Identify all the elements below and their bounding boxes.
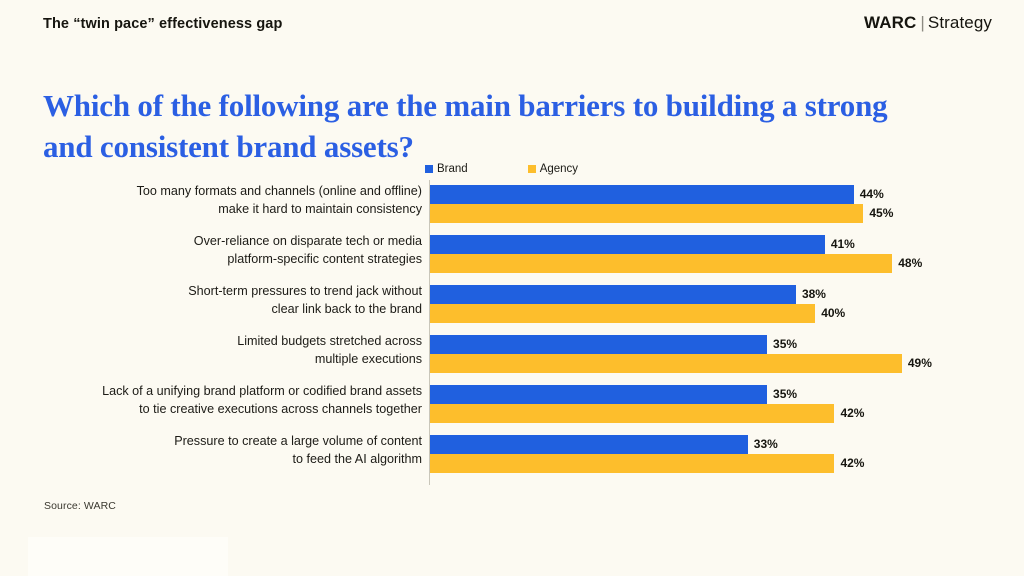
bar-row: 41% [430,235,1024,254]
legend-label-brand: Brand [437,163,468,175]
bar-row: 40% [430,304,1024,323]
category-label-line: multiple executions [2,350,422,368]
plot-area: Too many formats and channels (online an… [0,180,1024,490]
bar-row: 44% [430,185,1024,204]
bar-value-label: 35% [773,337,797,351]
bar-row: 35% [430,385,1024,404]
bar-row: 42% [430,454,1024,473]
bar-agency[interactable] [430,204,863,223]
bar-group: Lack of a unifying brand platform or cod… [0,385,1024,426]
warc-wordmark: WARC [864,13,916,32]
bar-group: Over-reliance on disparate tech or media… [0,235,1024,276]
bar-agency[interactable] [430,254,892,273]
bar-value-label: 42% [840,406,864,420]
bar-row: 49% [430,354,1024,373]
eyebrow-text: The “twin pace” effectiveness gap [43,16,282,32]
bar-value-label: 35% [773,387,797,401]
category-label-line: Limited budgets stretched across [2,332,422,350]
bar-brand[interactable] [430,435,748,454]
bar-row: 45% [430,204,1024,223]
bar-chart: Brand Agency Too many formats and channe… [0,155,1024,490]
bar-brand[interactable] [430,335,767,354]
legend-item-brand[interactable]: Brand [425,163,468,175]
bar-value-label: 48% [898,256,922,270]
legend-swatch-agency-icon [528,165,536,173]
category-label: Pressure to create a large volume of con… [2,432,422,468]
bar-row: 38% [430,285,1024,304]
legend-item-agency[interactable]: Agency [528,163,578,175]
bar-value-label: 45% [869,206,893,220]
category-label: Over-reliance on disparate tech or media… [2,232,422,268]
source-note: Source: WARC [44,500,116,512]
bar-agency[interactable] [430,404,834,423]
category-label-line: Lack of a unifying brand platform or cod… [2,382,422,400]
bar-pair: 35%49% [430,335,1024,376]
category-label-line: Too many formats and channels (online an… [2,182,422,200]
bar-row: 35% [430,335,1024,354]
bar-group: Short-term pressures to trend jack witho… [0,285,1024,326]
legend-swatch-brand-icon [425,165,433,173]
bottom-decorative-panel [28,537,228,576]
bar-pair: 44%45% [430,185,1024,226]
bar-pair: 41%48% [430,235,1024,276]
category-label-line: Pressure to create a large volume of con… [2,432,422,450]
warc-sub-brand: Strategy [928,13,992,32]
category-label: Short-term pressures to trend jack witho… [2,282,422,318]
category-label: Lack of a unifying brand platform or cod… [2,382,422,418]
bar-row: 48% [430,254,1024,273]
bar-brand[interactable] [430,185,854,204]
bar-value-label: 38% [802,287,826,301]
category-label-line: make it hard to maintain consistency [2,200,422,218]
category-label-line: Short-term pressures to trend jack witho… [2,282,422,300]
category-label: Limited budgets stretched acrossmultiple… [2,332,422,368]
bar-agency[interactable] [430,304,815,323]
chart-legend: Brand Agency [425,162,578,176]
bar-pair: 38%40% [430,285,1024,326]
bar-value-label: 33% [754,437,778,451]
bar-value-label: 41% [831,237,855,251]
category-label-line: to feed the AI algorithm [2,450,422,468]
slide-header: The “twin pace” effectiveness gap WARC|S… [0,0,1024,48]
bar-pair: 35%42% [430,385,1024,426]
bar-group: Pressure to create a large volume of con… [0,435,1024,476]
bar-brand[interactable] [430,385,767,404]
bar-value-label: 49% [908,356,932,370]
legend-label-agency: Agency [540,163,578,175]
bar-pair: 33%42% [430,435,1024,476]
bar-value-label: 40% [821,306,845,320]
bar-row: 42% [430,404,1024,423]
bar-row: 33% [430,435,1024,454]
category-label-line: clear link back to the brand [2,300,422,318]
category-label-line: Over-reliance on disparate tech or media [2,232,422,250]
category-label-line: platform-specific content strategies [2,250,422,268]
bar-brand[interactable] [430,235,825,254]
bar-value-label: 44% [860,187,884,201]
bar-agency[interactable] [430,454,834,473]
slide-canvas: The “twin pace” effectiveness gap WARC|S… [0,0,1024,576]
logo-separator: | [920,13,925,32]
warc-logo: WARC|Strategy [864,13,992,33]
bar-value-label: 42% [840,456,864,470]
bar-brand[interactable] [430,285,796,304]
bar-group: Limited budgets stretched acrossmultiple… [0,335,1024,376]
category-label: Too many formats and channels (online an… [2,182,422,218]
bar-agency[interactable] [430,354,902,373]
category-label-line: to tie creative executions across channe… [2,400,422,418]
bar-group: Too many formats and channels (online an… [0,185,1024,226]
